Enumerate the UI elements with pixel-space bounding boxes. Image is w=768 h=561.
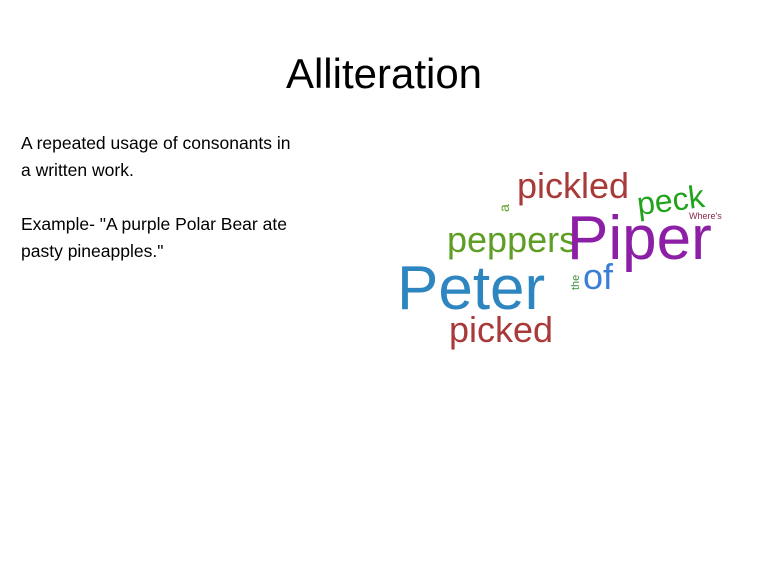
wordcloud-word-peppers: peppers	[447, 222, 577, 258]
slide-canvas: Alliteration A repeated usage of consona…	[0, 0, 768, 561]
body-line-4: pasty pineapples."	[21, 238, 381, 265]
wordcloud-word-of: of	[583, 259, 613, 295]
body-line-1: A repeated usage of consonants in	[21, 130, 381, 157]
body-text-block: A repeated usage of consonants in a writ…	[21, 130, 381, 265]
wordcloud-word-a: a	[497, 204, 511, 212]
page-title: Alliteration	[0, 50, 768, 97]
wordcloud-word-picked: picked	[449, 312, 553, 348]
wordcloud-word-pickled: pickled	[517, 168, 629, 204]
body-line-2: a written work.	[21, 157, 381, 184]
wordcloud-word-the: the	[571, 275, 582, 290]
paragraph-spacer	[21, 184, 381, 211]
wordcloud-image: pickled peck peppers Piper Peter picked …	[389, 160, 736, 379]
wordcloud-word-wheres: Where's	[689, 212, 722, 221]
body-line-3: Example- "A purple Polar Bear ate	[21, 211, 381, 238]
